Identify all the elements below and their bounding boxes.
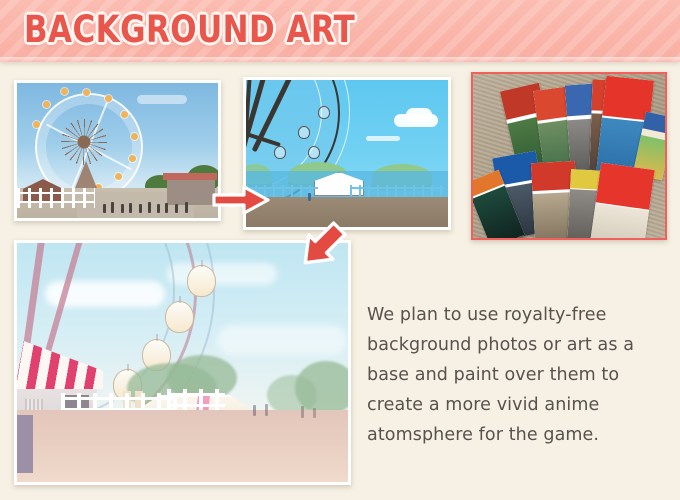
photo-ferris-wheel-sketch-content	[246, 80, 448, 227]
visitor	[148, 202, 151, 213]
photo-ferris-wheel-real-content	[17, 83, 218, 218]
slide-header: BACKGROUND ART	[0, 0, 680, 62]
paragraph-line: base and paint over them to	[367, 360, 665, 390]
gondola	[105, 95, 112, 102]
ferris-wheel-hub	[61, 119, 107, 165]
magazine-cover-band	[643, 112, 665, 134]
gondola	[165, 301, 194, 333]
ground-path	[17, 410, 348, 482]
photo-reference-magazines-content	[473, 74, 665, 238]
gondola	[121, 111, 128, 118]
magazine	[589, 163, 654, 238]
cloud	[406, 108, 432, 122]
description-paragraph: We plan to use royalty-free background p…	[367, 300, 665, 450]
photo-ferris-wheel-painted-content	[17, 243, 348, 482]
gondola	[83, 89, 90, 96]
paragraph-line: create a more vivid anime	[367, 390, 665, 420]
visitor	[129, 203, 132, 213]
magazine-cover-band	[596, 163, 655, 210]
visitor	[265, 404, 268, 416]
paragraph-line: background photos or art as a	[367, 330, 665, 360]
photo-reference-magazines	[471, 72, 667, 240]
photo-ferris-wheel-painted	[14, 240, 351, 485]
visitor	[111, 202, 114, 213]
paragraph-line: We plan to use royalty-free	[367, 300, 665, 330]
visitor	[103, 204, 106, 213]
gondola	[318, 106, 330, 119]
tree	[267, 375, 317, 415]
cloud	[137, 95, 187, 104]
white-fence	[17, 188, 95, 208]
visitor	[185, 202, 188, 213]
gondola	[43, 101, 50, 108]
arrow-down-left-icon	[292, 214, 354, 276]
page-title: BACKGROUND ART	[24, 8, 355, 52]
visitor	[301, 406, 304, 418]
gondola	[33, 121, 40, 128]
visitor	[253, 405, 256, 416]
visitor	[313, 408, 316, 418]
park-building-roof	[163, 173, 217, 180]
magazine-cover-photo	[589, 204, 649, 238]
pillar	[17, 415, 33, 473]
gondola	[187, 265, 216, 297]
cloud	[366, 136, 400, 141]
arrow-right-icon	[214, 184, 270, 216]
visitor	[175, 204, 178, 213]
visitor	[308, 193, 311, 201]
fence-rail	[350, 185, 444, 197]
gondola	[298, 126, 310, 139]
gondola	[61, 88, 68, 95]
visitor	[165, 203, 168, 213]
gondola	[308, 146, 320, 159]
visitor	[157, 204, 160, 213]
gondola	[129, 155, 136, 162]
gondola	[115, 173, 122, 180]
gondola	[131, 133, 138, 140]
visitor	[121, 204, 124, 213]
cloud	[217, 325, 347, 355]
paragraph-line: atomsphere for the game.	[367, 420, 665, 450]
visitor	[139, 204, 142, 213]
slide-canvas: BACKGROUND ART	[0, 0, 680, 500]
gondola	[274, 146, 286, 159]
photo-ferris-wheel-real	[14, 80, 221, 221]
photo-ferris-wheel-sketch	[243, 77, 451, 230]
